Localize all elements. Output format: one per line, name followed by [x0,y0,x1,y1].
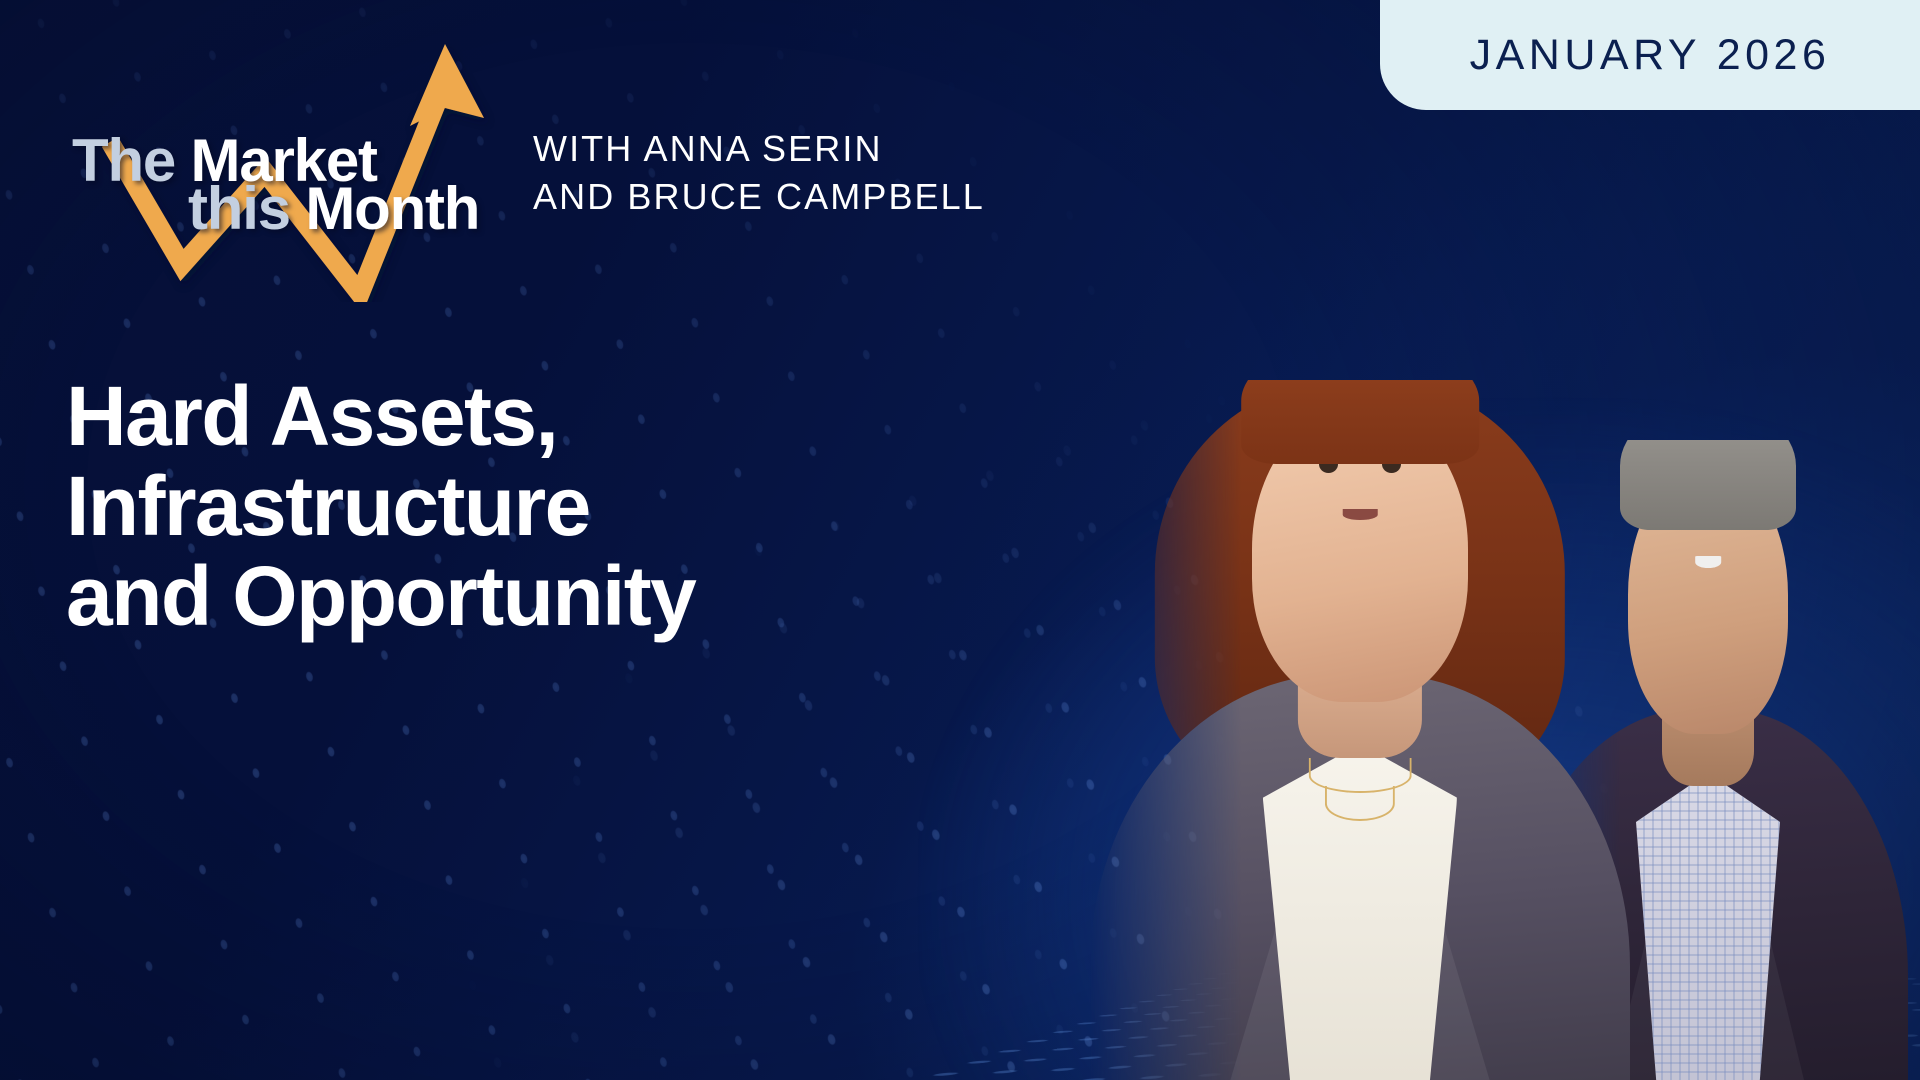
title-card: JANUARY 2026 The Market this Month [0,0,1920,1080]
episode-title-line-3: and Opportunity [66,552,695,642]
show-logo: The Market this Month [60,22,540,302]
bruce-shirt [1636,773,1780,1080]
presenter-portraits [1020,280,1920,1080]
presenter-credit: WITH ANNA SERIN AND BRUCE CAMPBELL [533,125,985,220]
trend-arrow-icon [60,22,540,302]
episode-title: Hard Assets, Infrastructure and Opportun… [66,372,695,642]
date-badge-label: JANUARY 2026 [1470,31,1831,80]
date-badge: JANUARY 2026 [1380,0,1920,110]
portrait-anna-serin [1090,380,1630,1080]
bruce-smile [1695,556,1721,567]
anna-smile [1343,509,1378,519]
anna-hair-crown [1241,338,1479,464]
episode-title-line-2: Infrastructure [66,462,695,552]
bruce-hair [1620,402,1796,530]
presenter-line-2: AND BRUCE CAMPBELL [533,173,985,221]
presenter-line-1: WITH ANNA SERIN [533,125,985,173]
anna-necklace-inner [1325,786,1395,821]
episode-title-line-1: Hard Assets, [66,372,695,462]
